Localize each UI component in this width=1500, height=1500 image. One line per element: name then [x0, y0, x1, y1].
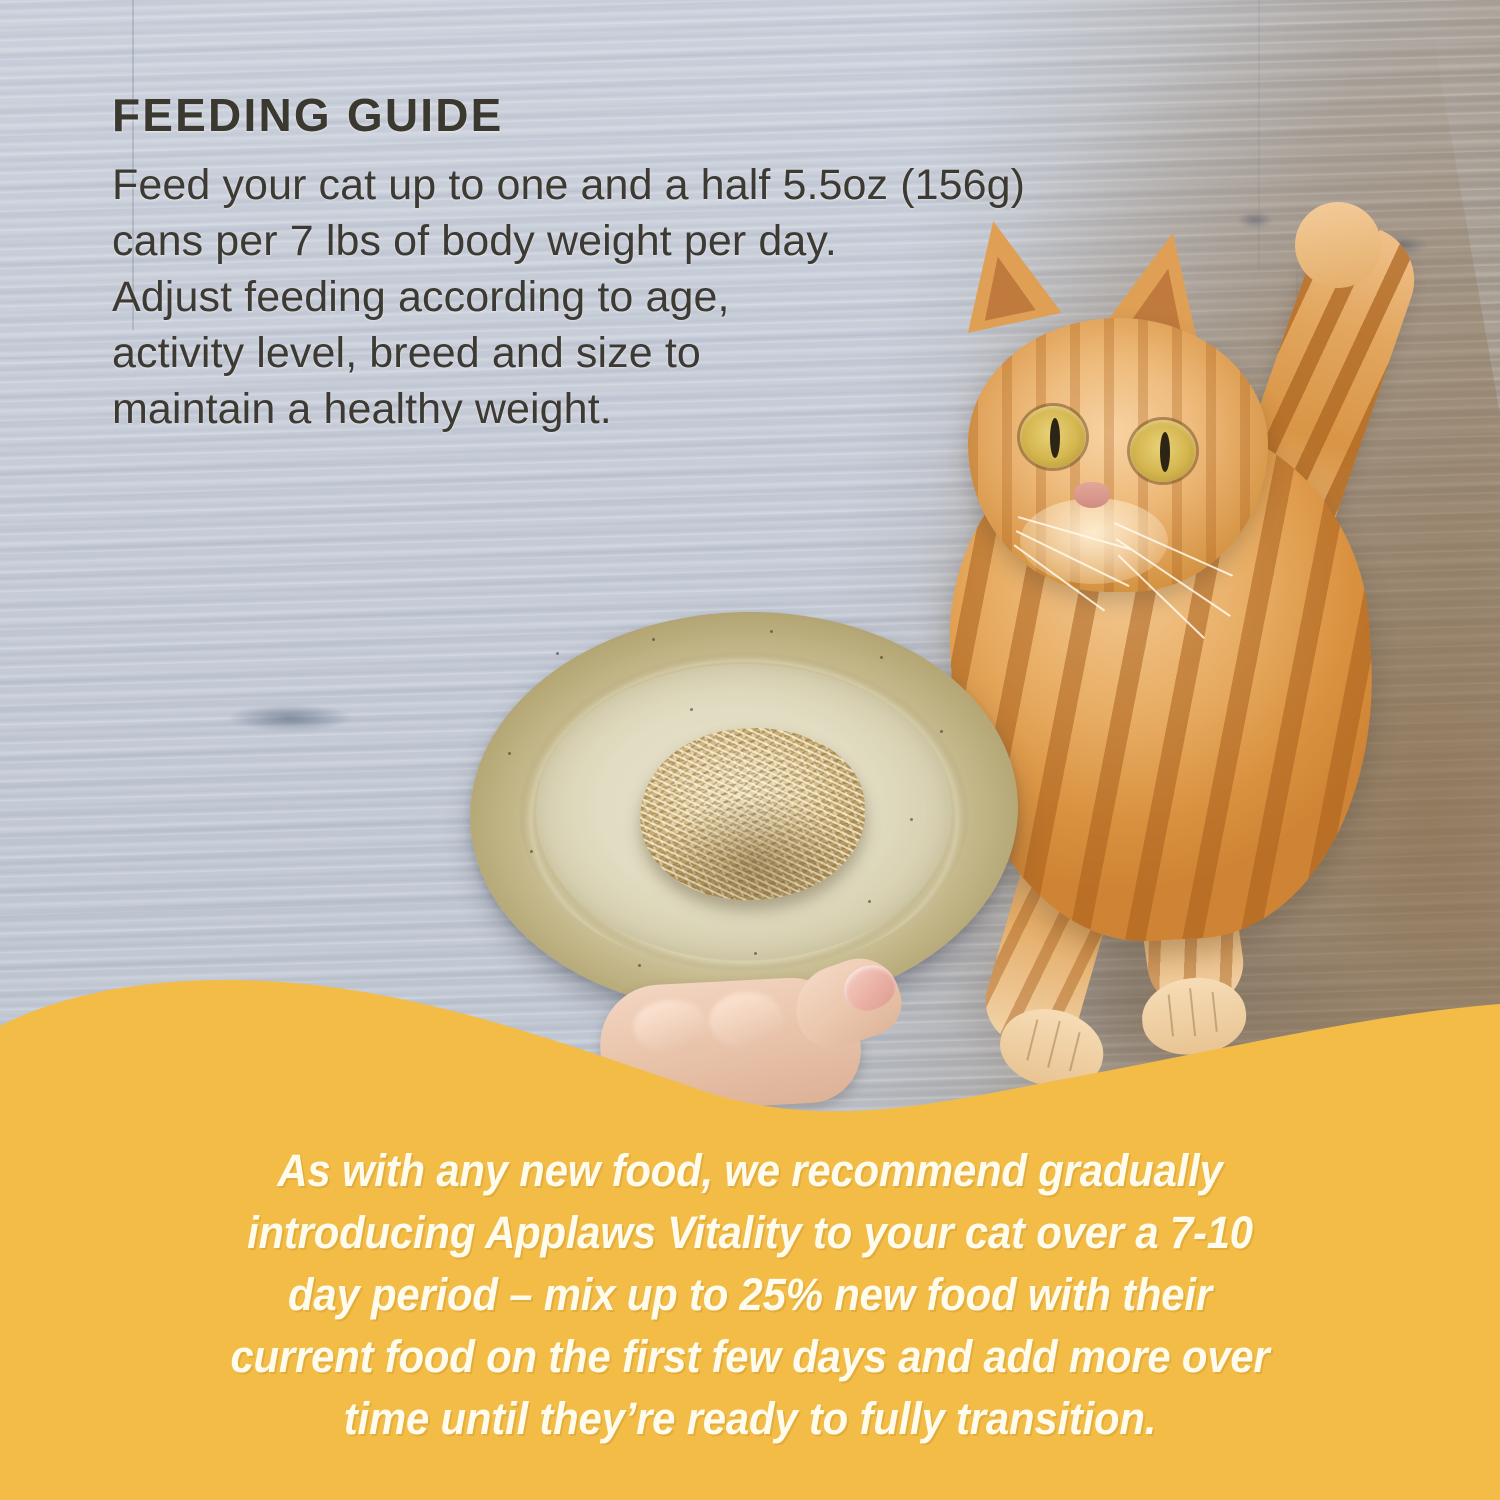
feeding-guide-copy: FEEDING GUIDE Feed your cat up to one an…	[112, 92, 1292, 437]
feeding-guide-card: FEEDING GUIDE Feed your cat up to one an…	[0, 0, 1500, 1500]
transition-advice-banner: As with any new food, we recommend gradu…	[0, 980, 1500, 1500]
cat-nose	[1074, 482, 1110, 508]
plate-speckle	[754, 952, 757, 955]
plate-speckle	[940, 730, 943, 733]
plate-speckle	[638, 964, 641, 967]
feeding-instructions: Feed your cat up to one and a half 5.5oz…	[112, 157, 1292, 437]
cat-pupil-right	[1160, 432, 1170, 472]
cat-muzzle	[1020, 498, 1168, 584]
shredded-chicken-food	[636, 722, 870, 906]
plate-speckle	[770, 630, 773, 633]
plate-speckle	[690, 708, 693, 711]
plate-speckle	[530, 850, 533, 853]
banner-message: As with any new food, we recommend gradu…	[108, 1140, 1391, 1450]
plate-speckle	[868, 900, 871, 903]
plate-speckle	[910, 818, 913, 821]
plate-speckle	[652, 638, 655, 641]
page-title: FEEDING GUIDE	[112, 92, 1292, 138]
plate-speckle	[556, 652, 559, 655]
plate-speckle	[880, 656, 883, 659]
plate-speckle	[508, 752, 511, 755]
wood-knot	[230, 705, 350, 731]
food-shading	[636, 722, 870, 906]
